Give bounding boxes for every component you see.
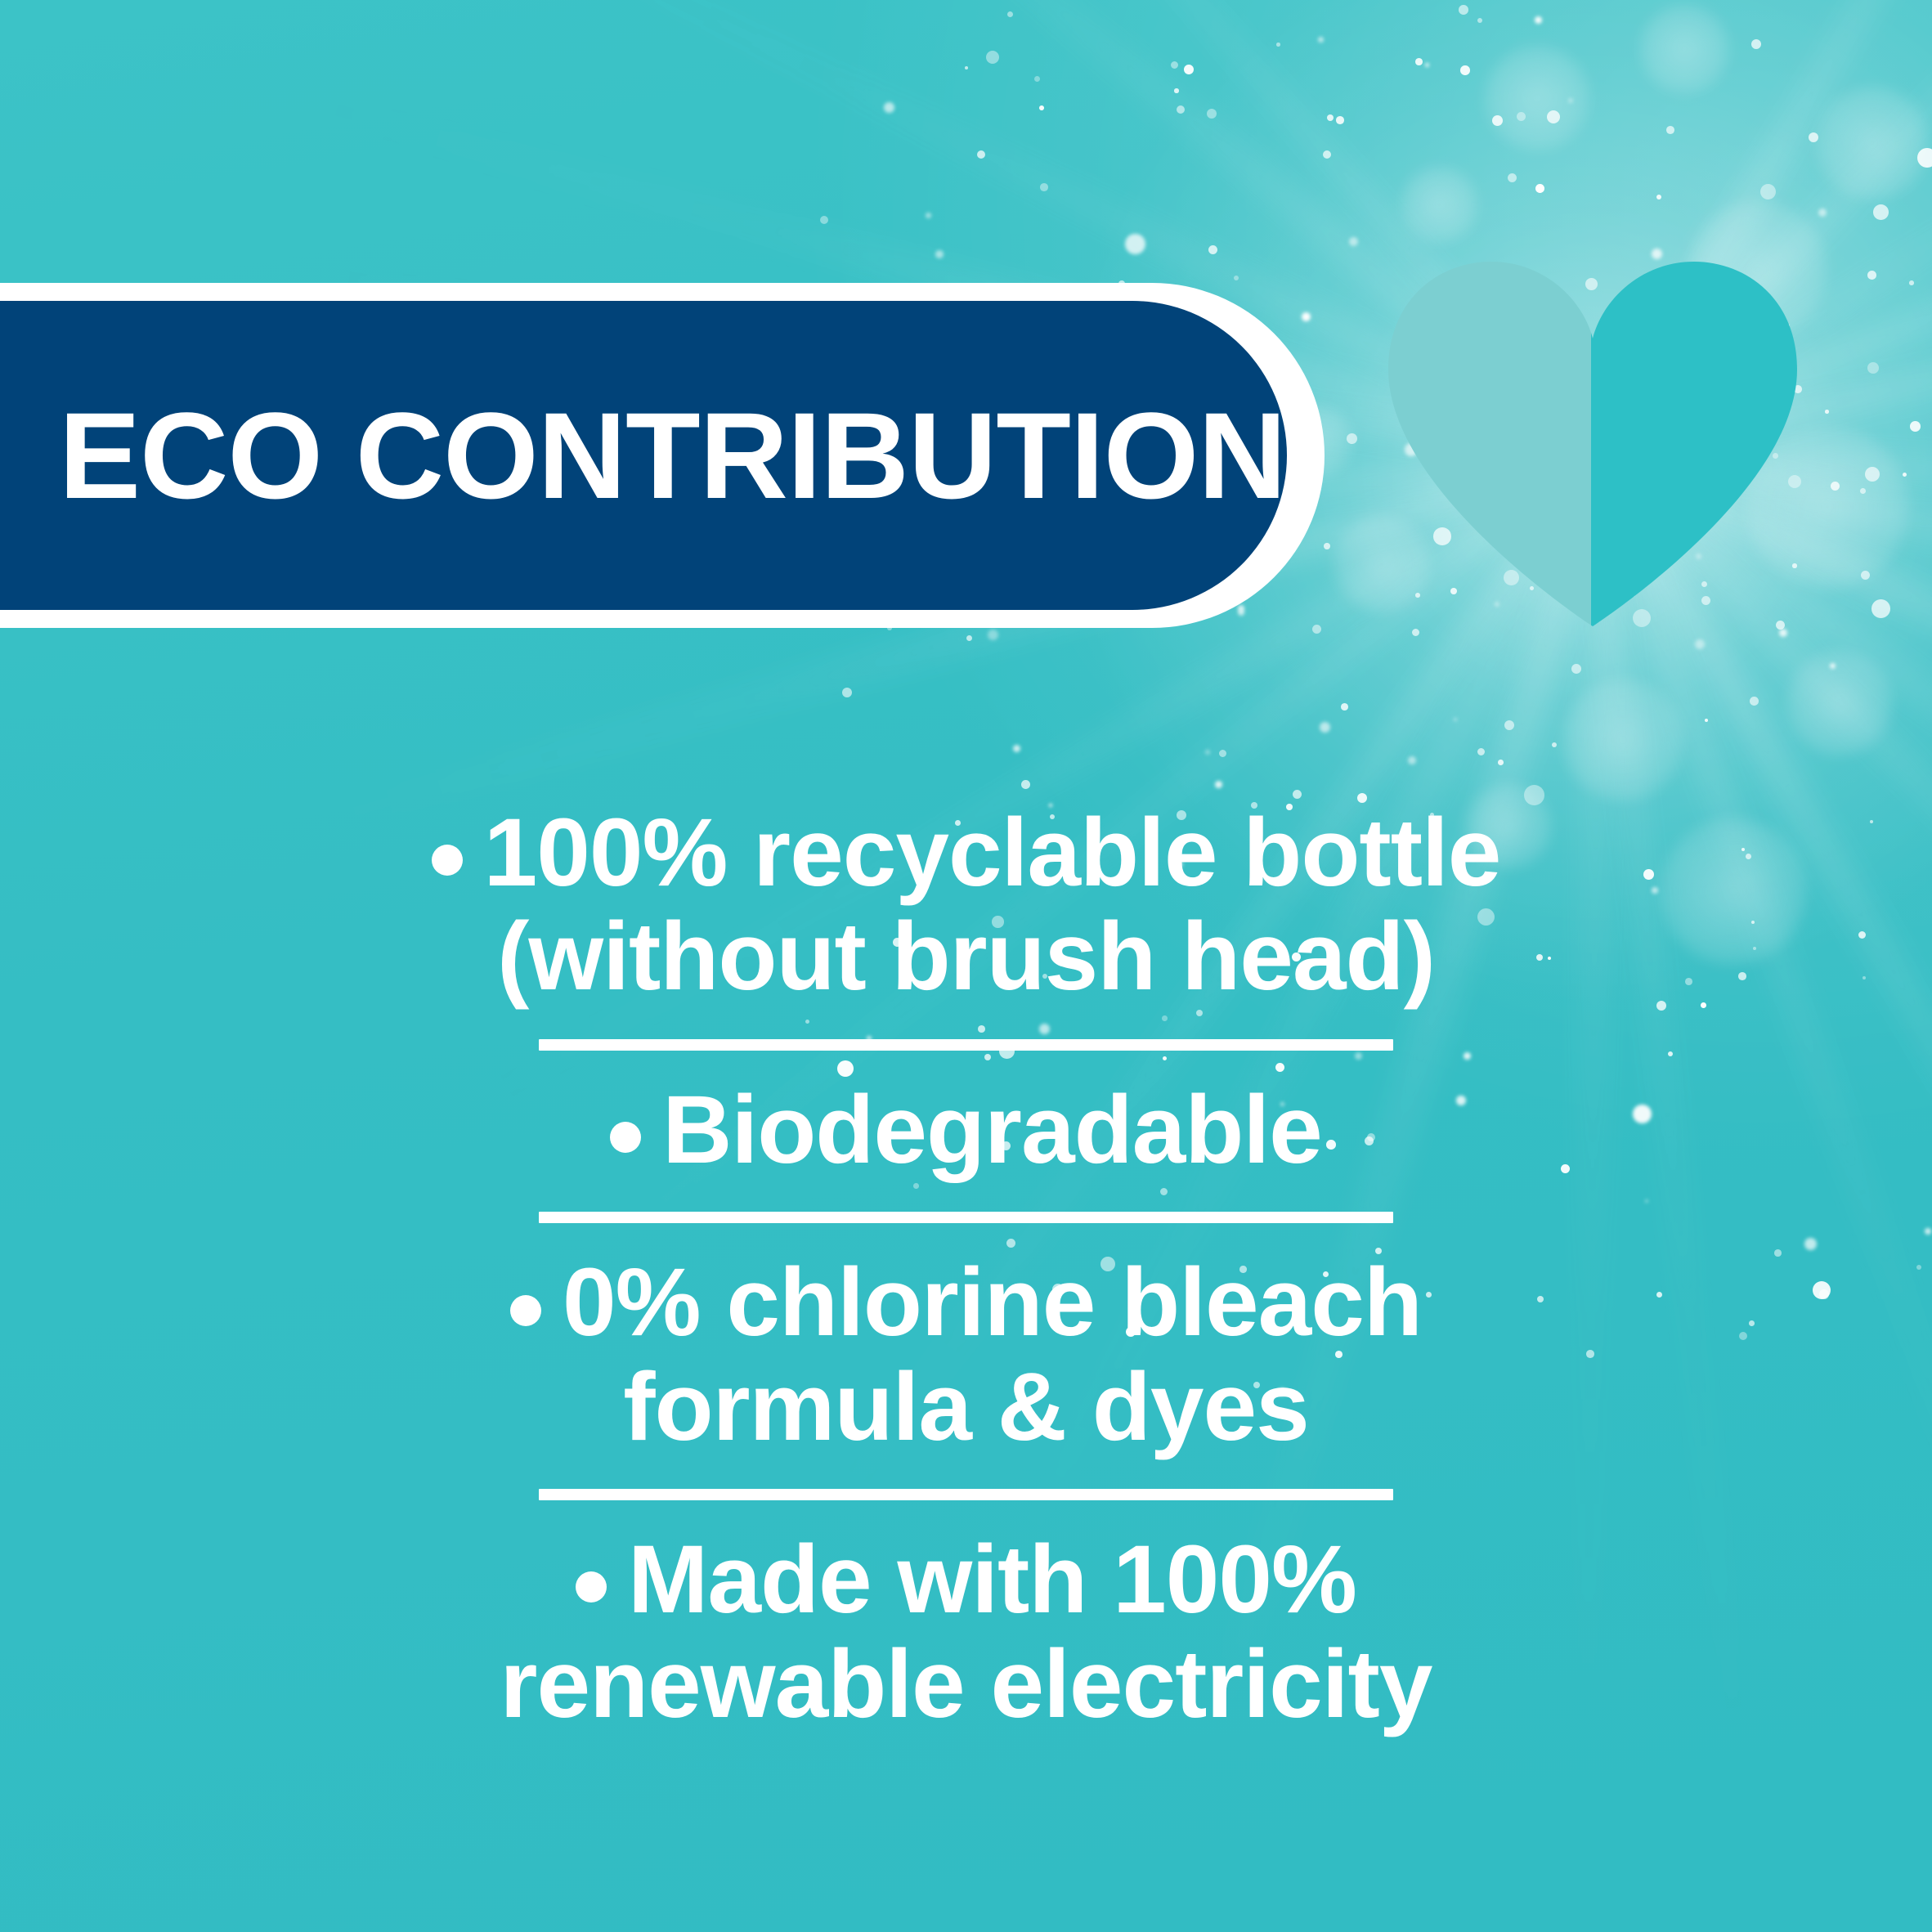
bullet-dot-icon — [432, 845, 463, 876]
bullet-dot-icon — [610, 1122, 641, 1153]
list-item: Biodegradable — [0, 1078, 1932, 1182]
page-title: ECO CONTRIBUTION — [0, 394, 1286, 517]
eco-contribution-banner: ECO CONTRIBUTION — [0, 283, 1325, 628]
eco-benefits-list: 100% recyclable bottle (without brush he… — [0, 801, 1932, 1737]
bullet-dot-icon — [510, 1295, 541, 1326]
benefit-line-1: 100% recyclable bottle — [484, 799, 1501, 907]
list-item: 0% chlorine bleach formula & dyes — [0, 1251, 1932, 1459]
benefit-line-2: renewable electricity — [147, 1633, 1785, 1737]
benefit-line-2: (without brush head) — [147, 905, 1785, 1009]
list-item: 100% recyclable bottle (without brush he… — [0, 801, 1932, 1010]
benefit-line-1: Made with 100% — [628, 1526, 1356, 1634]
heart-left-half — [1388, 260, 1594, 626]
banner-fill: ECO CONTRIBUTION — [0, 301, 1287, 610]
list-item: Made with 100% renewable electricity — [0, 1528, 1932, 1737]
heart-icon — [1388, 260, 1797, 626]
bullet-dot-icon — [576, 1571, 607, 1603]
list-divider — [539, 1212, 1393, 1223]
benefit-line-1: Biodegradable — [662, 1076, 1322, 1184]
heart-right-half — [1591, 260, 1797, 626]
list-divider — [539, 1039, 1393, 1051]
list-divider — [539, 1489, 1393, 1500]
benefit-line-2: formula & dyes — [147, 1356, 1785, 1459]
benefit-line-1: 0% chlorine bleach — [563, 1248, 1422, 1356]
eco-contribution-poster: ECO CONTRIBUTION 100% recyclable bottle … — [0, 0, 1932, 1932]
